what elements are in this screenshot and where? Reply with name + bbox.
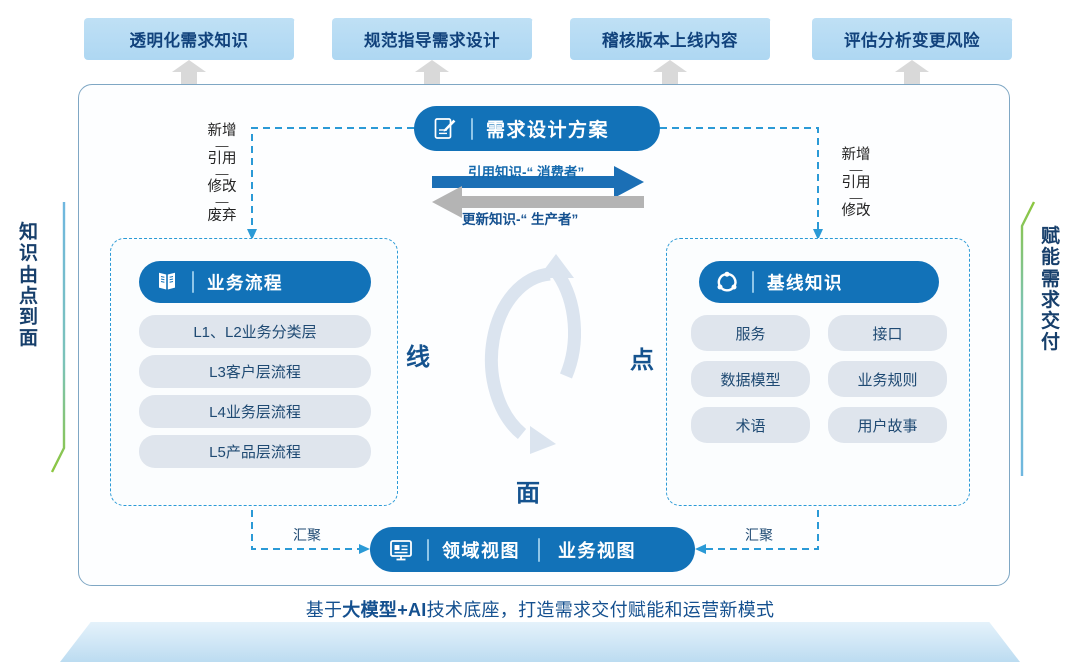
step-label: 修改 <box>832 204 880 219</box>
pill-divider-2 <box>538 538 540 562</box>
left-label-char: 面 <box>14 328 44 349</box>
step-divider: — <box>198 168 246 180</box>
caption-strong: 大模型+AI <box>342 600 426 620</box>
baseline-knowledge-label: 基线知识 <box>767 270 843 295</box>
requirement-design-plan-card[interactable]: 需求设计方案 <box>414 106 660 151</box>
open-book-icon <box>155 270 179 294</box>
list-item[interactable]: L5产品层流程 <box>139 435 371 468</box>
list-item[interactable]: L3客户层流程 <box>139 355 371 388</box>
cycle-label-point: 点 <box>630 340 654 375</box>
list-item[interactable]: 数据模型 <box>691 361 810 397</box>
converge-label-left: 汇聚 <box>293 525 321 545</box>
step-divider: — <box>198 140 246 152</box>
cycle-label-face: 面 <box>516 473 540 508</box>
step-divider: — <box>198 196 246 208</box>
list-item[interactable]: L4业务层流程 <box>139 395 371 428</box>
document-edit-icon <box>432 116 458 142</box>
cycle-label-line: 线 <box>406 337 430 372</box>
list-item[interactable]: 业务规则 <box>828 361 947 397</box>
diagram-canvas: 透明化需求知识 规范指导需求设计 稽核版本上线内容 评估分析变更风险 知 识 由… <box>0 0 1080 664</box>
left-label-char: 知 <box>14 222 44 243</box>
top-banner-transparent-knowledge: 透明化需求知识 <box>84 18 294 60</box>
list-item[interactable]: 用户故事 <box>828 407 947 443</box>
presentation-board-icon <box>388 537 414 563</box>
caption-suffix: 技术底座，打造需求交付赋能和运营新模式 <box>427 600 775 620</box>
step-label: 引用 <box>832 176 880 191</box>
flow-forward-label: 引用知识-“ 消费者” <box>468 161 584 181</box>
list-item[interactable]: L1、L2业务分类层 <box>139 315 371 348</box>
right-label-char: 需 <box>1036 269 1066 290</box>
baseline-knowledge-panel: 基线知识 服务 接口 数据模型 业务规则 术语 用户故事 <box>666 238 970 506</box>
network-node-icon <box>715 270 739 294</box>
domain-view-label: 领域视图 <box>442 537 520 563</box>
step-divider: — <box>832 164 880 176</box>
left-label-char: 由 <box>14 265 44 286</box>
top-banner-label: 透明化需求知识 <box>130 27 249 51</box>
step-label: 新增 <box>832 148 880 163</box>
left-operation-steps: 新增 — 引用 — 修改 — 废弃 <box>198 124 246 223</box>
pill-divider <box>427 539 429 561</box>
top-banner-standard-design: 规范指导需求设计 <box>332 18 532 60</box>
view-summary-card[interactable]: 领域视图 业务视图 <box>370 527 695 572</box>
requirement-design-plan-label: 需求设计方案 <box>486 115 609 142</box>
caption-prefix: 基于 <box>306 600 343 620</box>
right-label-char: 付 <box>1036 332 1066 353</box>
footer-trapezoid-band <box>60 622 1020 662</box>
list-item[interactable]: 接口 <box>828 315 947 351</box>
cycle-arrow-icon <box>470 248 610 468</box>
left-label-char: 识 <box>14 243 44 264</box>
business-process-item-list: L1、L2业务分类层 L3客户层流程 L4业务层流程 L5产品层流程 <box>139 315 371 468</box>
left-side-label: 知 识 由 点 到 面 <box>14 222 44 350</box>
left-label-char: 点 <box>14 286 44 307</box>
baseline-knowledge-header[interactable]: 基线知识 <box>699 261 939 303</box>
footer-caption: 基于大模型+AI技术底座，打造需求交付赋能和运营新模式 <box>0 596 1080 622</box>
right-side-label: 赋 能 需 求 交 付 <box>1036 226 1066 354</box>
right-label-char: 求 <box>1036 290 1066 311</box>
converge-label-right: 汇聚 <box>745 525 773 545</box>
business-process-panel: 业务流程 L1、L2业务分类层 L3客户层流程 L4业务层流程 L5产品层流程 <box>110 238 398 506</box>
step-label: 废弃 <box>198 209 246 224</box>
left-bracket <box>50 200 80 480</box>
baseline-knowledge-item-grid: 服务 接口 数据模型 业务规则 术语 用户故事 <box>691 315 947 443</box>
business-process-header[interactable]: 业务流程 <box>139 261 371 303</box>
top-banner-audit-release: 稽核版本上线内容 <box>570 18 770 60</box>
left-label-char: 到 <box>14 307 44 328</box>
top-banner-change-risk: 评估分析变更风险 <box>812 18 1012 60</box>
flow-backward-label: 更新知识-“ 生产者” <box>462 208 578 228</box>
right-operation-steps: 新增 — 引用 — 修改 <box>832 148 880 219</box>
pill-divider <box>752 271 754 293</box>
right-label-char: 能 <box>1036 247 1066 268</box>
step-label: 修改 <box>198 180 246 195</box>
top-banner-label: 稽核版本上线内容 <box>602 27 738 51</box>
list-item[interactable]: 服务 <box>691 315 810 351</box>
step-divider: — <box>832 192 880 204</box>
step-label: 引用 <box>198 152 246 167</box>
step-label: 新增 <box>198 124 246 139</box>
business-process-label: 业务流程 <box>207 270 283 295</box>
list-item[interactable]: 术语 <box>691 407 810 443</box>
pill-divider <box>192 271 194 293</box>
right-label-char: 赋 <box>1036 226 1066 247</box>
top-banner-label: 规范指导需求设计 <box>364 27 500 51</box>
business-view-label: 业务视图 <box>558 537 636 563</box>
right-label-char: 交 <box>1036 311 1066 332</box>
pill-divider <box>471 118 473 140</box>
top-banner-label: 评估分析变更风险 <box>844 27 980 51</box>
